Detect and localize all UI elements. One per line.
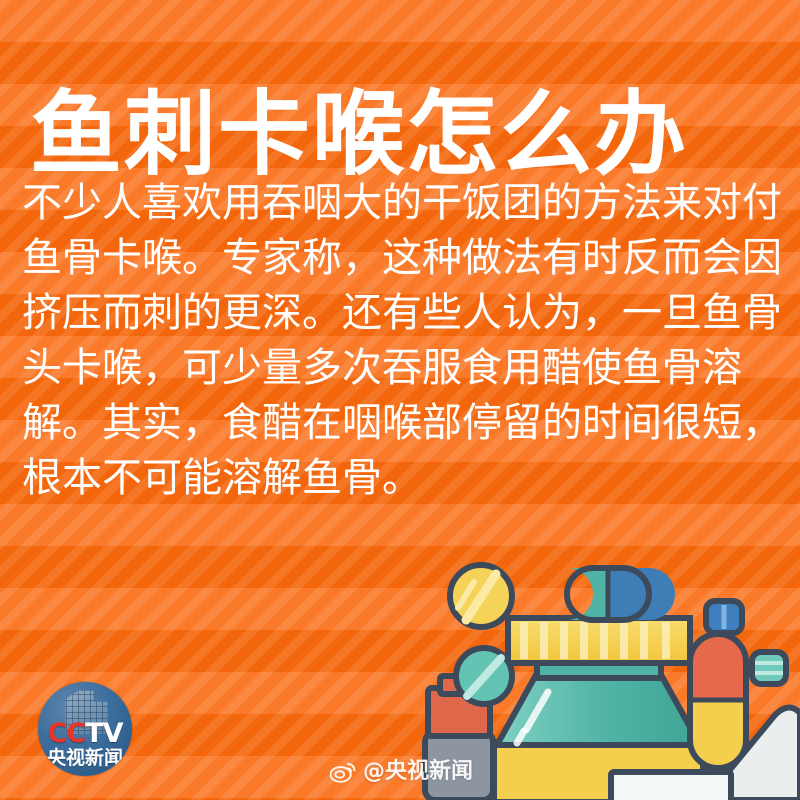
body-paragraph: 不少人喜欢用吞咽大的干饭团的方法来对付 鱼骨卡喉。专家称，这种做法有时反而会因 … [22,176,762,506]
cctv-wordmark-tv: TV [85,718,122,749]
pill-round-yellow [450,565,512,627]
poster-root: 鱼刺卡喉怎么办 不少人喜欢用吞咽大的干饭团的方法来对付 鱼骨卡喉。专家称，这种做… [0,0,800,800]
body-line: 不少人喜欢用吞咽大的干饭团的方法来对付 [22,176,762,231]
box-white [611,772,731,800]
cctv-logo: CCTV 央视新闻 [38,682,132,776]
body-line: 头卡喉，可少量多次吞服食用醋使鱼骨溶 [22,341,762,396]
pill-round-teal [456,648,512,704]
pill-square-teal [752,652,786,684]
body-line: 挤压而刺的更深。还有些人认为，一旦鱼骨 [22,286,762,341]
capsule-orange-yellow [690,634,746,768]
pill-square-blue [706,601,742,633]
cctv-wordmark: CCTV [38,720,132,747]
cctv-wordmark-cc: CC [48,718,86,749]
weibo-eye-icon [330,761,356,783]
weibo-watermark: @央视新闻 [330,760,473,784]
body-line: 根本不可能溶解鱼骨。 [22,451,762,506]
cctv-subtitle: 央视新闻 [38,748,132,768]
capsule-teal-blue [567,568,675,620]
body-line: 鱼骨卡喉。专家称，这种做法有时反而会因 [22,231,762,286]
page-title: 鱼刺卡喉怎么办 [30,78,790,190]
body-line: 解。其实，食醋在咽喉部停留的时间很短， [22,396,762,451]
weibo-handle: @央视新闻 [363,760,473,784]
